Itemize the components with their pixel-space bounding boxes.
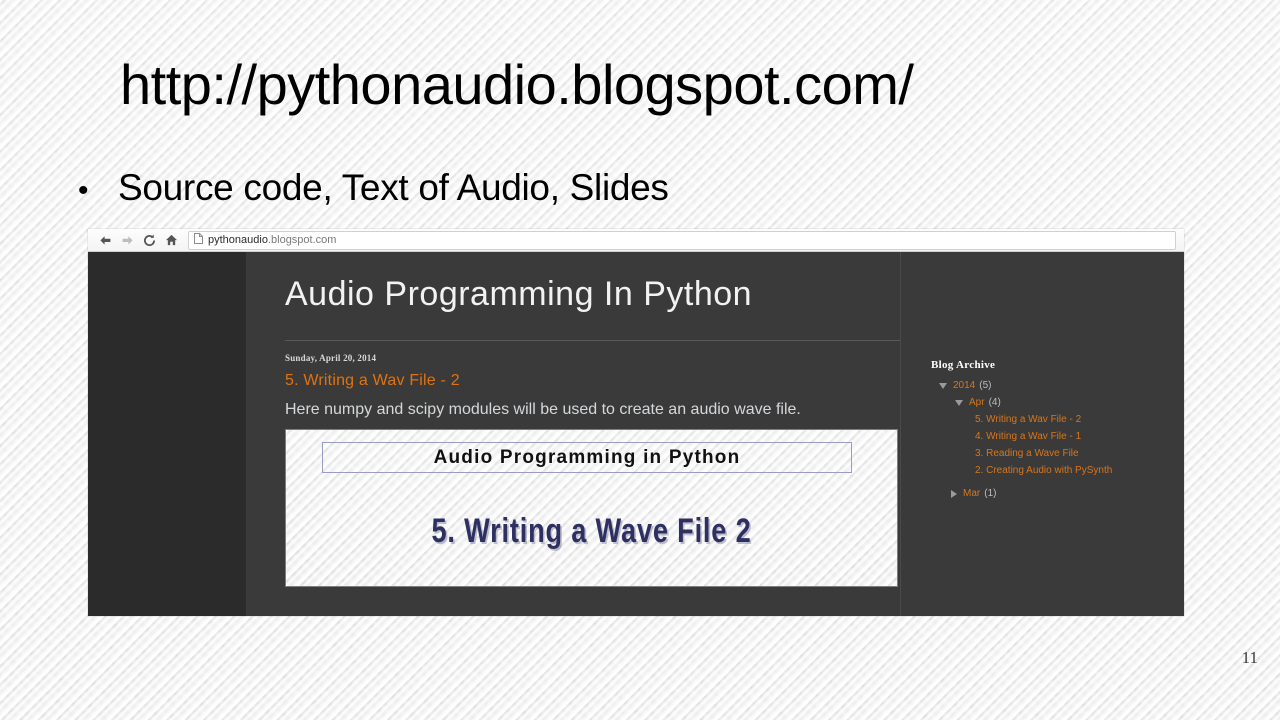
- archive-post-link[interactable]: 3. Reading a Wave File: [931, 447, 1184, 461]
- page-document-icon: [194, 231, 203, 249]
- blog-archive-heading: Blog Archive: [931, 359, 1184, 371]
- bullet-marker: •: [78, 169, 118, 213]
- archive-year-label: 2014: [953, 379, 975, 393]
- archive-month-label: Apr: [969, 396, 985, 410]
- slide-canvas: http://pythonaudio.blogspot.com/ • Sourc…: [0, 0, 1280, 720]
- archive-month-row[interactable]: Apr (4): [931, 396, 1184, 410]
- post-date: Sunday, April 20, 2014: [285, 353, 900, 363]
- reload-icon[interactable]: [138, 230, 160, 250]
- blog-header-title: Audio Programming In Python: [285, 252, 900, 314]
- archive-collapsed-month-row[interactable]: Mar (1): [931, 487, 1184, 501]
- archive-year-row[interactable]: 2014 (5): [931, 379, 1184, 393]
- slide-image-main-title: 5. Writing a Wave File 2: [347, 512, 836, 551]
- chevron-down-icon[interactable]: [939, 383, 947, 389]
- archive-post-link[interactable]: 5. Writing a Wav File - 2: [931, 413, 1184, 427]
- archive-collapsed-month-count: (1): [984, 487, 996, 501]
- slide-image-header-box: Audio Programming in Python: [322, 442, 852, 473]
- browser-toolbar: pythonaudio.blogspot.com: [88, 229, 1184, 252]
- page-left-gutter: [88, 252, 246, 616]
- slide-page-number: 11: [1242, 648, 1258, 668]
- archive-post-link[interactable]: 2. Creating Audio with PySynth: [931, 464, 1184, 478]
- address-bar[interactable]: pythonaudio.blogspot.com: [188, 231, 1176, 250]
- archive-month-count: (4): [989, 396, 1001, 410]
- post-body-text: Here numpy and scipy modules will be use…: [285, 399, 873, 420]
- home-icon[interactable]: [160, 230, 182, 250]
- address-bar-url: pythonaudio.blogspot.com: [208, 234, 336, 246]
- address-bar-domain: pythonaudio: [208, 234, 268, 246]
- page-title: http://pythonaudio.blogspot.com/: [120, 52, 1180, 118]
- chevron-down-icon[interactable]: [955, 400, 963, 406]
- archive-year-count: (5): [979, 379, 991, 393]
- header-divider: [285, 340, 900, 341]
- bullet-label: Source code, Text of Audio, Slides: [118, 165, 669, 211]
- archive-post-link[interactable]: 4. Writing a Wav File - 1: [931, 430, 1184, 444]
- blog-post-column: Audio Programming In Python Sunday, Apri…: [246, 252, 900, 616]
- forward-arrow-icon[interactable]: [116, 230, 138, 250]
- blog-page: Audio Programming In Python Sunday, Apri…: [88, 252, 1184, 616]
- blog-content-area: Audio Programming In Python Sunday, Apri…: [246, 252, 1184, 616]
- address-bar-path: .blogspot.com: [268, 234, 336, 246]
- bullet-item: • Source code, Text of Audio, Slides: [78, 165, 669, 213]
- back-arrow-icon[interactable]: [94, 230, 116, 250]
- post-title-link[interactable]: 5. Writing a Wav File - 2: [285, 372, 900, 390]
- slide-image-header-text: Audio Programming in Python: [434, 447, 741, 469]
- archive-collapsed-month-label: Mar: [963, 487, 980, 501]
- post-slide-image[interactable]: Audio Programming in Python 5. Writing a…: [285, 429, 898, 587]
- blog-sidebar: Blog Archive 2014 (5) Apr (4) 5. Writing…: [900, 252, 1184, 616]
- browser-screenshot: pythonaudio.blogspot.com Audio Programmi…: [88, 229, 1184, 616]
- chevron-right-icon[interactable]: [951, 490, 957, 498]
